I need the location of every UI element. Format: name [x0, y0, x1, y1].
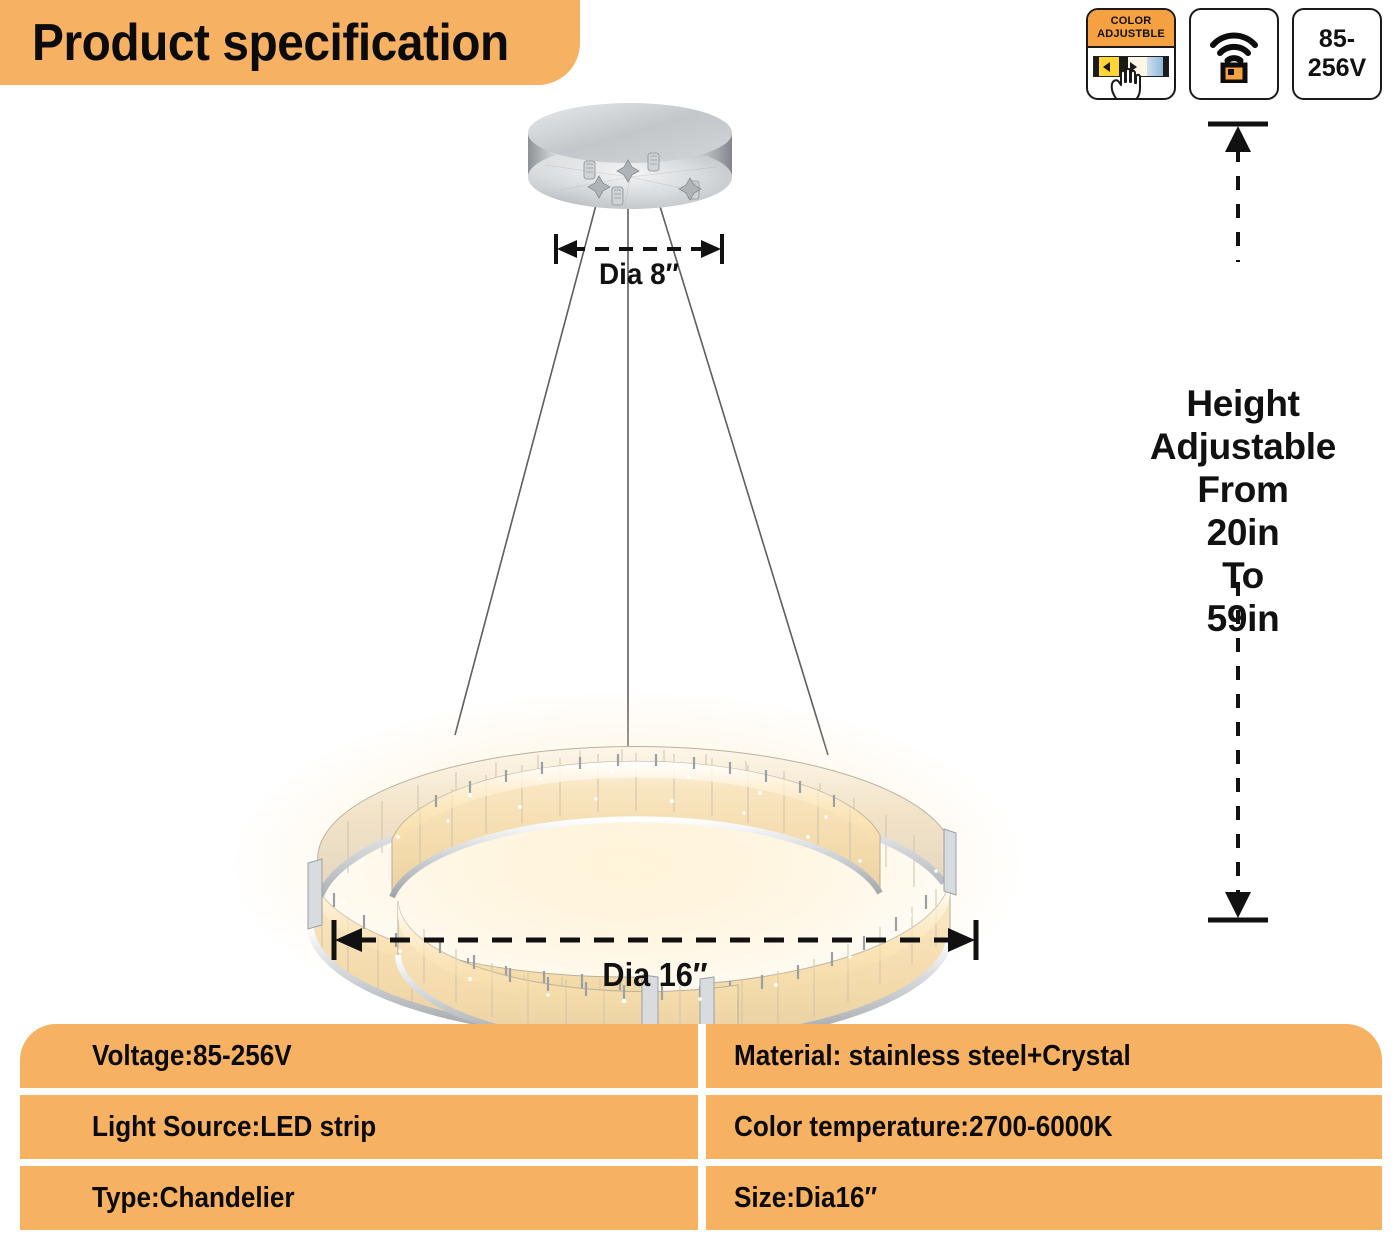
spec-value-material: Material: stainless steel+Crystal [734, 1040, 1131, 1073]
feature-badge-row: COLOR ADJUSTBLE [1086, 8, 1382, 100]
height-line-1: Height [1108, 382, 1378, 425]
spec-value-voltage: Voltage:85-256V [92, 1040, 292, 1073]
badge-color-line1: COLOR [1111, 15, 1152, 28]
height-adjustable-dimension: Height Adjustable From 20in To 59in [1108, 112, 1378, 942]
spec-value-color-temperature: Color temperature:2700-6000K [734, 1111, 1113, 1144]
row-gap-2-mid [698, 1159, 706, 1166]
badge-voltage: 85- 256V [1292, 8, 1382, 100]
spec-value-size: Size:Dia16″ [734, 1182, 877, 1215]
spec-cell-material: Material: stainless steel+Crystal [706, 1024, 1382, 1088]
row-gap-1-left [20, 1088, 698, 1095]
badge-voltage-line2: 256V [1308, 54, 1366, 82]
page-title-banner: Product specification [0, 0, 580, 85]
row-gap-2-right [706, 1159, 1382, 1166]
height-adjustable-label: Height Adjustable From 20in To 59in [1108, 382, 1378, 640]
height-line-5: To [1108, 554, 1378, 597]
height-line-2: Adjustable [1108, 425, 1378, 468]
dia-8-label: Dia 8″ [559, 258, 719, 292]
specification-table: Voltage:85-256V Material: stainless stee… [20, 1024, 1382, 1230]
column-gap-1 [698, 1024, 706, 1088]
product-illustration [0, 95, 1060, 1025]
height-line-6: 59in [1108, 597, 1378, 640]
column-gap-3 [698, 1166, 706, 1230]
spec-cell-size: Size:Dia16″ [706, 1166, 1382, 1230]
chandelier-drawing [0, 95, 1060, 1025]
wifi-remote-icon [1205, 25, 1263, 83]
column-gap-2 [698, 1095, 706, 1159]
spec-value-light-source: Light Source:LED strip [92, 1111, 376, 1144]
badge-color-header: COLOR ADJUSTBLE [1088, 10, 1174, 48]
dia-16-label: Dia 16″ [353, 956, 958, 994]
spec-cell-color-temperature: Color temperature:2700-6000K [706, 1095, 1382, 1159]
height-line-4: 20in [1108, 511, 1378, 554]
badge-voltage-line1: 85- [1319, 25, 1355, 53]
ceiling-canopy [528, 103, 732, 209]
row-gap-1-mid [698, 1088, 706, 1095]
spec-cell-type: Type:Chandelier [20, 1166, 698, 1230]
spec-cell-voltage: Voltage:85-256V [20, 1024, 698, 1088]
spec-cell-light-source: Light Source:LED strip [20, 1095, 698, 1159]
page-title: Product specification [32, 13, 509, 73]
spec-value-type: Type:Chandelier [92, 1182, 295, 1215]
row-gap-1-right [706, 1088, 1382, 1095]
dia-16-dimension: Dia 16″ [330, 918, 980, 1003]
badge-remote-control [1189, 8, 1279, 100]
badge-color-slider-area [1088, 48, 1174, 100]
badge-color-line2: ADJUSTBLE [1097, 28, 1165, 41]
slider-right-cap [1163, 57, 1168, 76]
hand-pointer-icon [1108, 68, 1150, 100]
height-line-3: From [1108, 468, 1378, 511]
dia-8-dimension: Dia 8″ [553, 232, 725, 302]
row-gap-2-left [20, 1159, 698, 1166]
badge-color-adjustable: COLOR ADJUSTBLE [1086, 8, 1176, 100]
